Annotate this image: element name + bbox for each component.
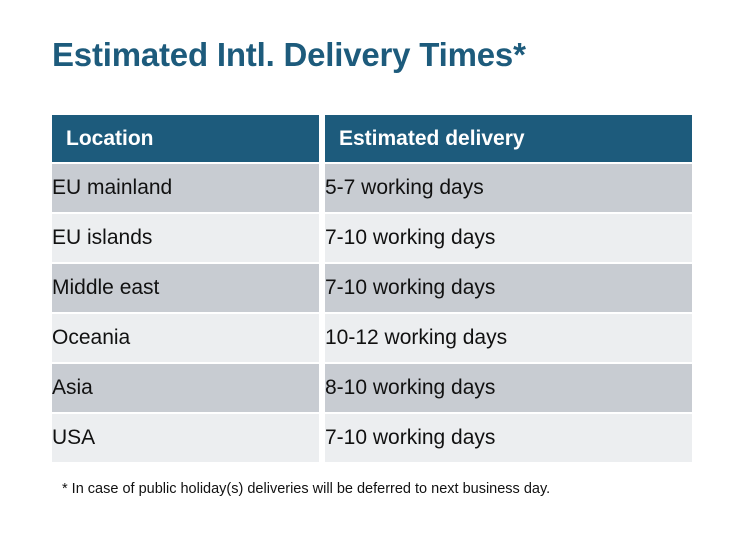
table-row: EU mainland 5-7 working days xyxy=(52,164,692,212)
column-header-estimated-delivery: Estimated delivery xyxy=(325,115,692,162)
table-header: Location Estimated delivery xyxy=(52,115,692,162)
cell-delivery: 7-10 working days xyxy=(325,214,692,262)
cell-location: Oceania xyxy=(52,314,319,362)
cell-location: USA xyxy=(52,414,319,462)
cell-location: EU islands xyxy=(52,214,319,262)
page-title: Estimated Intl. Delivery Times* xyxy=(52,36,526,74)
table-row: EU islands 7-10 working days xyxy=(52,214,692,262)
table-row: Oceania 10-12 working days xyxy=(52,314,692,362)
table-row: Middle east 7-10 working days xyxy=(52,264,692,312)
column-header-location: Location xyxy=(52,115,319,162)
table-body: EU mainland 5-7 working days EU islands … xyxy=(52,164,692,462)
cell-location: Middle east xyxy=(52,264,319,312)
table-row: USA 7-10 working days xyxy=(52,414,692,462)
cell-delivery: 5-7 working days xyxy=(325,164,692,212)
cell-delivery: 10-12 working days xyxy=(325,314,692,362)
table-header-row: Location Estimated delivery xyxy=(52,115,692,162)
cell-location: Asia xyxy=(52,364,319,412)
delivery-table-container: Location Estimated delivery EU mainland … xyxy=(52,113,692,464)
delivery-times-table: Location Estimated delivery EU mainland … xyxy=(52,113,692,464)
cell-delivery: 7-10 working days xyxy=(325,414,692,462)
table-row: Asia 8-10 working days xyxy=(52,364,692,412)
footnote-text: * In case of public holiday(s) deliverie… xyxy=(62,481,550,497)
cell-location: EU mainland xyxy=(52,164,319,212)
document-page: Estimated Intl. Delivery Times* Location… xyxy=(0,0,745,536)
cell-delivery: 7-10 working days xyxy=(325,264,692,312)
cell-delivery: 8-10 working days xyxy=(325,364,692,412)
